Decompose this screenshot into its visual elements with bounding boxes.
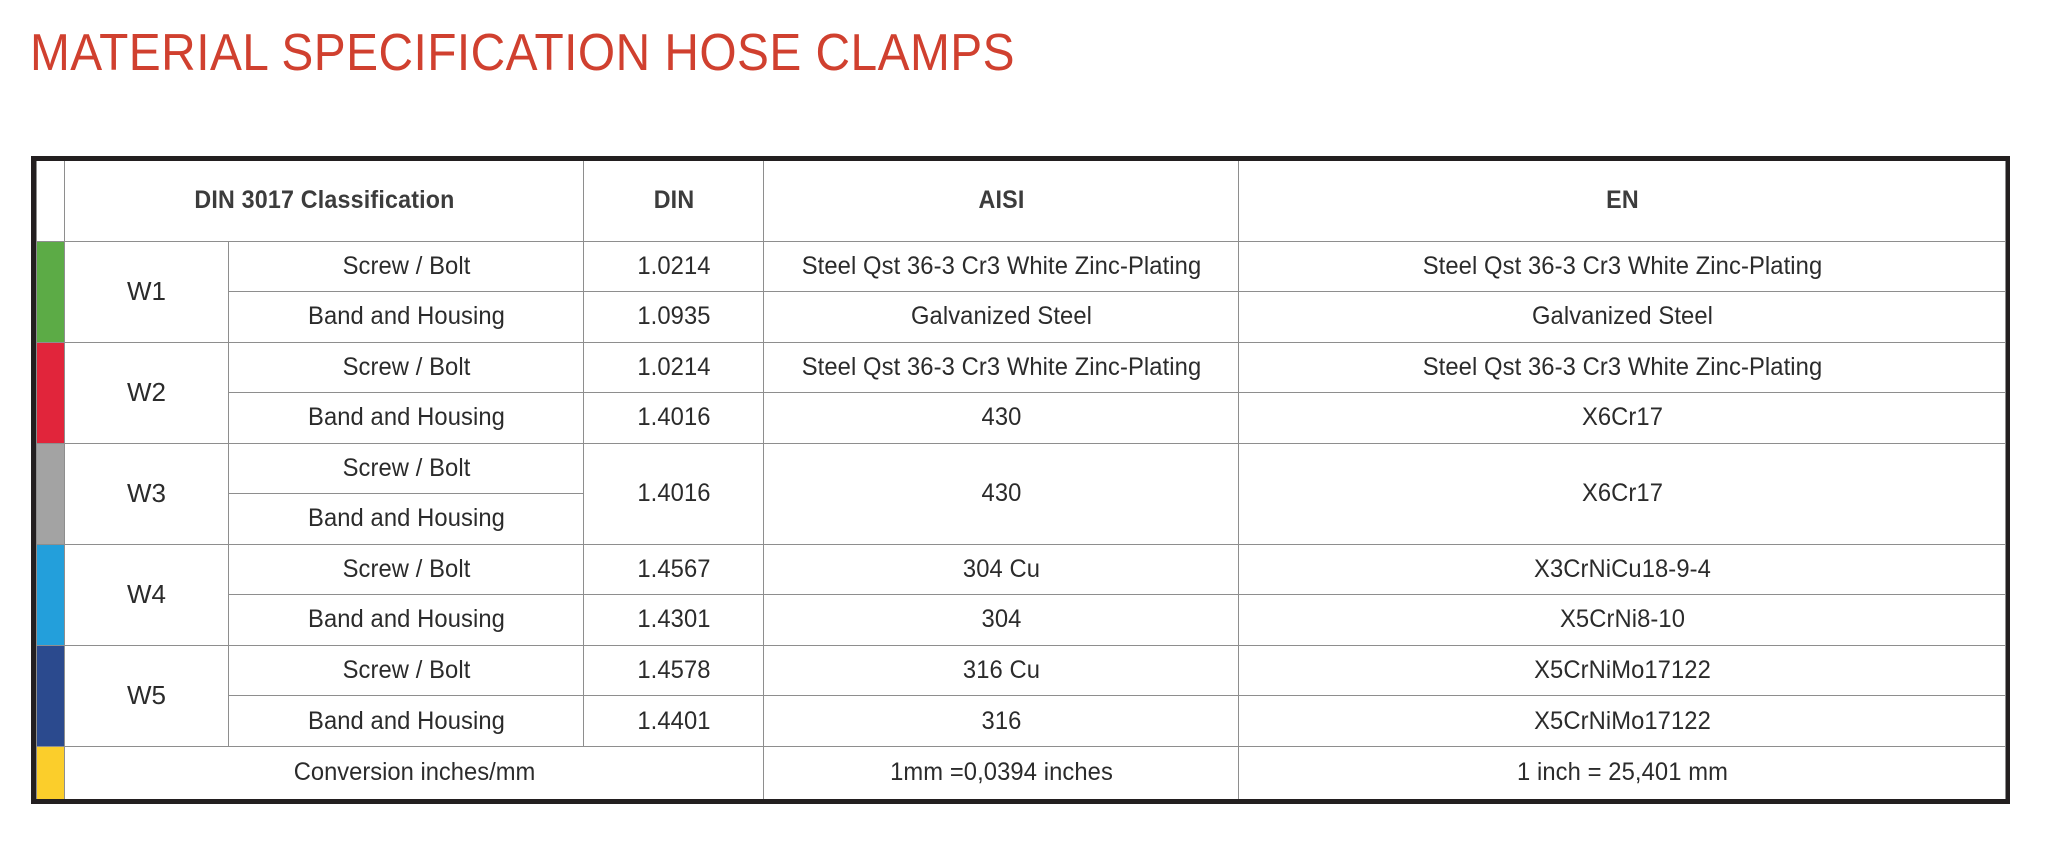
grade-label: W3 [65,443,229,544]
swatch-fill-w1 [37,242,64,342]
table-row: W3 Screw / Bolt 1.4016 430 X6Cr17 [37,443,2006,494]
grade-label: W4 [65,544,229,645]
conversion-color-swatch [37,746,65,799]
table-body: W1 Screw / Bolt 1.0214 Steel Qst 36-3 Cr… [37,241,2006,799]
table-row: Band and Housing 1.4301 304 X5CrNi8-10 [37,595,2006,646]
grade-color-swatch [37,443,65,544]
table-row: Band and Housing 1.4016 430 X6Cr17 [37,393,2006,444]
grade-label: W2 [65,342,229,443]
en-value: Steel Qst 36-3 Cr3 White Zinc-Plating [1258,342,1987,393]
din-value: 1.0214 [588,241,759,292]
aisi-value: 316 Cu [775,645,1226,696]
header-classification: DIN 3017 Classification [83,161,566,241]
specification-table-container: DIN 3017 Classification DIN AISI EN W1 S… [31,156,2010,804]
grade-color-swatch [37,342,65,443]
en-value: X6Cr17 [1258,393,1987,444]
table-row: W2 Screw / Bolt 1.0214 Steel Qst 36-3 Cr… [37,342,2006,393]
table-header: DIN 3017 Classification DIN AISI EN [37,161,2006,241]
en-value: X5CrNiMo17122 [1258,696,1987,747]
din-value: 1.0214 [588,342,759,393]
aisi-value: Steel Qst 36-3 Cr3 White Zinc-Plating [775,241,1226,292]
conversion-row: Conversion inches/mm 1mm =0,0394 inches … [37,746,2006,799]
part-type: Screw / Bolt [237,645,574,696]
header-en: EN [1265,161,1978,241]
grade-color-swatch [37,544,65,645]
grade-label: W5 [65,645,229,746]
conversion-inch-to-mm: 1 inch = 25,401 mm [1258,746,1987,799]
din-value: 1.4401 [588,696,759,747]
part-type: Screw / Bolt [237,544,574,595]
en-value: X3CrNiCu18-9-4 [1258,544,1987,595]
aisi-value: 316 [775,696,1226,747]
aisi-value: 430 [775,393,1226,444]
part-type: Band and Housing [237,595,574,646]
header-swatch-spacer [37,161,63,241]
table-row: W5 Screw / Bolt 1.4578 316 Cu X5CrNiMo17… [37,645,2006,696]
aisi-value: 304 Cu [775,544,1226,595]
grade-label: W1 [65,241,229,342]
header-din: DIN [590,161,757,241]
table-row: W1 Screw / Bolt 1.0214 Steel Qst 36-3 Cr… [37,241,2006,292]
part-type: Screw / Bolt [237,241,574,292]
table-row: Band and Housing 1.0935 Galvanized Steel… [37,292,2006,343]
part-type: Band and Housing [237,696,574,747]
din-value: 1.4016 [588,443,759,544]
en-value: Steel Qst 36-3 Cr3 White Zinc-Plating [1258,241,1987,292]
din-value: 1.4016 [588,393,759,444]
swatch-fill-w3 [37,444,64,544]
din-value: 1.4578 [588,645,759,696]
specification-table: DIN 3017 Classification DIN AISI EN W1 S… [36,161,2006,799]
aisi-value: Steel Qst 36-3 Cr3 White Zinc-Plating [775,342,1226,393]
page-title: MATERIAL SPECIFICATION HOSE CLAMPS [30,24,1015,82]
part-type: Band and Housing [237,292,574,343]
part-type: Band and Housing [237,494,574,545]
swatch-fill-w2 [37,343,64,443]
table-row: Band and Housing 1.4401 316 X5CrNiMo1712… [37,696,2006,747]
swatch-fill-w5 [37,646,64,746]
part-type: Band and Housing [237,393,574,444]
grade-color-swatch [37,241,65,342]
grade-color-swatch [37,645,65,746]
header-row: DIN 3017 Classification DIN AISI EN [37,161,2006,241]
aisi-value: 430 [775,443,1226,544]
din-value: 1.4301 [588,595,759,646]
header-aisi: AISI [780,161,1222,241]
material-specification-page: MATERIAL SPECIFICATION HOSE CLAMPS DIN 3… [0,0,2047,868]
part-type: Screw / Bolt [237,342,574,393]
en-value: X5CrNi8-10 [1258,595,1987,646]
conversion-label: Conversion inches/mm [82,746,746,799]
swatch-fill-conversion [37,747,64,799]
conversion-mm-to-inches: 1mm =0,0394 inches [775,746,1226,799]
en-value: X5CrNiMo17122 [1258,645,1987,696]
part-type: Screw / Bolt [237,443,574,494]
din-value: 1.0935 [588,292,759,343]
din-value: 1.4567 [588,544,759,595]
table-row: W4 Screw / Bolt 1.4567 304 Cu X3CrNiCu18… [37,544,2006,595]
aisi-value: 304 [775,595,1226,646]
en-value: Galvanized Steel [1258,292,1987,343]
swatch-fill-w4 [37,545,64,645]
en-value: X6Cr17 [1258,443,1987,544]
aisi-value: Galvanized Steel [775,292,1226,343]
